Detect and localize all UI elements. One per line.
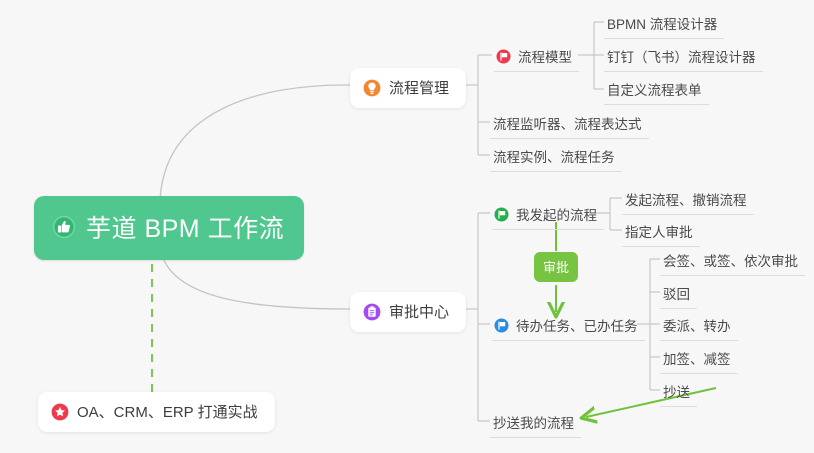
node-label: 驳回 bbox=[663, 283, 690, 303]
node-delegate-transfer[interactable]: 委派、转办 bbox=[660, 311, 738, 341]
branch-process-management[interactable]: 流程管理 bbox=[350, 68, 466, 108]
node-my-initiated[interactable]: 我发起的流程 bbox=[492, 200, 604, 230]
star-icon bbox=[51, 403, 69, 421]
node-label: 发起流程、撤销流程 bbox=[625, 189, 747, 209]
node-label: 指定人审批 bbox=[625, 221, 693, 241]
clipboard-icon bbox=[363, 303, 381, 321]
node-label: 自定义流程表单 bbox=[607, 79, 702, 99]
node-label: 抄送我的流程 bbox=[493, 412, 574, 432]
node-listener-expression[interactable]: 流程监听器、流程表达式 bbox=[490, 109, 649, 139]
flag-green-icon bbox=[494, 207, 509, 222]
footnote-label: OA、CRM、ERP 打通实战 bbox=[77, 401, 258, 422]
node-label: 委派、转办 bbox=[663, 315, 731, 335]
branch-approval-center[interactable]: 审批中心 bbox=[350, 292, 466, 332]
flag-blue-icon bbox=[494, 318, 509, 333]
node-add-remove-sign[interactable]: 加签、减签 bbox=[660, 344, 738, 374]
node-start-cancel[interactable]: 发起流程、撤销流程 bbox=[622, 185, 754, 215]
root-node[interactable]: 芋道 BPM 工作流 bbox=[34, 196, 304, 260]
node-reject[interactable]: 驳回 bbox=[660, 279, 697, 309]
node-multi-sign[interactable]: 会签、或签、依次审批 bbox=[660, 246, 805, 276]
footnote-node[interactable]: OA、CRM、ERP 打通实战 bbox=[38, 392, 275, 432]
node-label: 流程模型 bbox=[518, 46, 572, 66]
node-label: BPMN 流程设计器 bbox=[607, 13, 717, 33]
node-custom-process-form[interactable]: 自定义流程表单 bbox=[604, 75, 709, 105]
node-assignee-approval[interactable]: 指定人审批 bbox=[622, 217, 700, 247]
node-dingtalk-feishu-designer[interactable]: 钉钉（飞书）流程设计器 bbox=[604, 42, 763, 72]
node-label: 流程监听器、流程表达式 bbox=[493, 113, 642, 133]
tag-approval[interactable]: 审批 bbox=[534, 252, 578, 282]
branch-label: 流程管理 bbox=[389, 77, 449, 98]
thumbs-up-icon bbox=[52, 215, 76, 239]
root-label: 芋道 BPM 工作流 bbox=[86, 209, 284, 245]
node-cc[interactable]: 抄送 bbox=[660, 377, 697, 407]
node-label: 会签、或签、依次审批 bbox=[663, 250, 798, 270]
node-label: 流程实例、流程任务 bbox=[493, 146, 615, 166]
node-todo-done-tasks[interactable]: 待办任务、已办任务 bbox=[492, 311, 645, 341]
node-label: 我发起的流程 bbox=[516, 204, 597, 224]
node-label: 抄送 bbox=[663, 381, 690, 401]
node-cc-to-me[interactable]: 抄送我的流程 bbox=[490, 408, 581, 438]
mindmap-canvas: 芋道 BPM 工作流 OA、CRM、ERP 打通实战 流程管理 bbox=[0, 0, 814, 453]
tag-label: 审批 bbox=[543, 257, 569, 276]
node-label: 待办任务、已办任务 bbox=[516, 315, 638, 335]
node-instance-task[interactable]: 流程实例、流程任务 bbox=[490, 142, 622, 172]
wire-root-to-process-management bbox=[160, 85, 350, 200]
node-bpmn-designer[interactable]: BPMN 流程设计器 bbox=[604, 9, 724, 39]
lightbulb-icon bbox=[363, 79, 381, 97]
flag-red-icon bbox=[496, 49, 511, 64]
node-process-model[interactable]: 流程模型 bbox=[494, 42, 579, 72]
branch-label: 审批中心 bbox=[389, 301, 449, 322]
node-label: 钉钉（飞书）流程设计器 bbox=[607, 46, 756, 66]
node-label: 加签、减签 bbox=[663, 348, 731, 368]
